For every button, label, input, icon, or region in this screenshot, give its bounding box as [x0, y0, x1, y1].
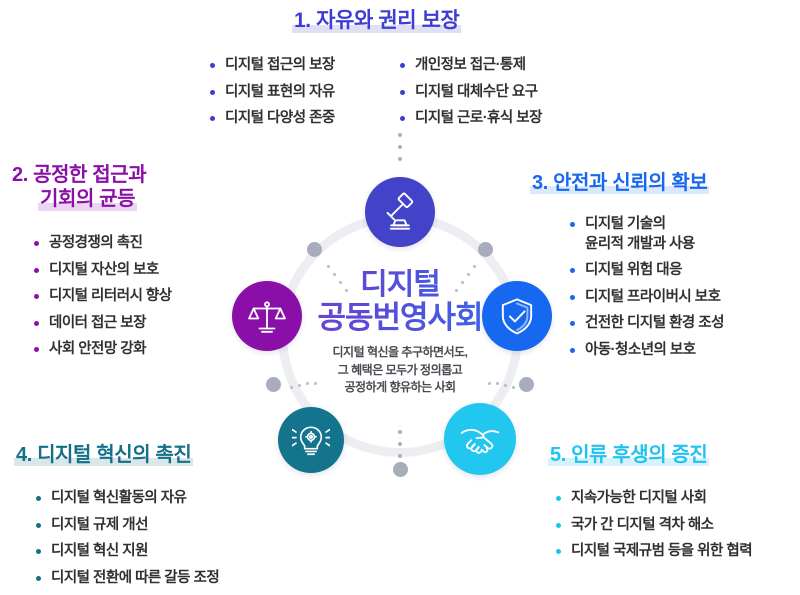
- list-item: 디지털 리터러시 향상: [34, 287, 172, 307]
- list-bullet: [570, 295, 575, 300]
- lightbulb-gear-icon[interactable]: [278, 407, 344, 473]
- section-1-list-right: 개인정보 접근·통제 디지털 대체수단 요구 디지털 근로·휴식 보장: [400, 56, 542, 136]
- list-item: 디지털 혁신활동의 자유: [36, 489, 219, 509]
- list-bullet: [556, 549, 561, 554]
- list-bullet: [34, 268, 39, 273]
- section-1-number: 1.: [294, 9, 311, 32]
- list-item: 디지털 기술의 윤리적 개발과 사용: [570, 215, 760, 254]
- list-item: 디지털 근로·휴식 보장: [400, 109, 542, 129]
- list-bullet: [36, 496, 41, 501]
- center-title-line2: 공동번영사회: [250, 301, 550, 336]
- ring-dot-top-left: [307, 242, 322, 257]
- list-bullet: [34, 347, 39, 352]
- section-5-heading: 5. 인류 후생의 증진: [548, 443, 709, 467]
- list-bullet: [36, 523, 41, 528]
- list-item: 디지털 국제규범 등을 위한 협력: [556, 542, 752, 562]
- list-bullet: [400, 116, 405, 121]
- section-3-title: 안전과 신뢰의 확보: [553, 172, 707, 194]
- section-3-heading: 3. 안전과 신뢰의 확보: [530, 171, 709, 195]
- center-subtitle: 디지털 혁신을 추구하면서도, 그 혜택은 모두가 정의롭고 공정하게 향유하는…: [250, 344, 550, 396]
- section-2-heading: 2. 공정한 접근과 기회의 균등: [12, 163, 146, 212]
- list-item: 디지털 위험 대응: [570, 261, 760, 281]
- list-bullet: [34, 241, 39, 246]
- list-item: 디지털 다양성 존중: [210, 109, 335, 129]
- section-1-heading: 1. 자유와 권리 보장: [292, 8, 461, 34]
- center-ring-diagram: 디지털 공동번영사회 디지털 혁신을 추구하면서도, 그 혜택은 모두가 정의롭…: [250, 185, 550, 485]
- section-4-number: 4.: [16, 444, 32, 466]
- section-2-list: 공정경쟁의 촉진 디지털 자산의 보호 디지털 리터러시 향상 데이터 접근 보…: [34, 234, 172, 367]
- section-5-number: 5.: [550, 444, 566, 466]
- list-item: 사회 안전망 강화: [34, 340, 172, 360]
- section-2-title-line2: 기회의 균등: [40, 188, 135, 210]
- gavel-icon[interactable]: [365, 177, 435, 247]
- list-item: 디지털 혁신 지원: [36, 542, 219, 562]
- center-subtitle-line3: 공정하게 향유하는 사회: [250, 379, 550, 396]
- list-item: 디지털 규제 개선: [36, 516, 219, 536]
- center-subtitle-line2: 그 혜택은 모두가 정의롭고: [250, 362, 550, 379]
- list-bullet: [556, 523, 561, 528]
- handshake-glyph: [459, 418, 501, 460]
- list-bullet: [36, 576, 41, 581]
- section-4-list: 디지털 혁신활동의 자유 디지털 규제 개선 디지털 혁신 지원 디지털 전환에…: [36, 489, 219, 595]
- list-item: 디지털 자산의 보호: [34, 261, 172, 281]
- list-item-line1: 디지털 기술의: [585, 216, 666, 232]
- list-item: 공정경쟁의 촉진: [34, 234, 172, 254]
- section-3-list: 디지털 기술의 윤리적 개발과 사용 디지털 위험 대응 디지털 프라이버시 보…: [570, 215, 760, 367]
- section-4-title: 디지털 혁신의 촉진: [37, 444, 191, 466]
- list-bullet: [400, 63, 405, 68]
- list-item: 건전한 디지털 환경 조성: [570, 314, 760, 334]
- list-bullet: [210, 116, 215, 121]
- ring-dot-bottom: [393, 462, 408, 477]
- list-bullet: [34, 294, 39, 299]
- list-bullet: [210, 90, 215, 95]
- list-bullet: [570, 321, 575, 326]
- gavel-glyph: [380, 192, 420, 232]
- section-2-title-line1: 공정한 접근과: [33, 164, 146, 186]
- center-title-line1: 디지털: [250, 269, 550, 301]
- list-bullet: [556, 496, 561, 501]
- list-item: 아동·청소년의 보호: [570, 341, 760, 361]
- list-bullet: [570, 268, 575, 273]
- lightbulb-glyph: [292, 421, 330, 459]
- section-4-heading: 4. 디지털 혁신의 촉진: [14, 443, 193, 467]
- section-5-list: 지속가능한 디지털 사회 국가 간 디지털 격차 해소 디지털 국제규범 등을 …: [556, 489, 752, 569]
- list-item: 디지털 표현의 자유: [210, 83, 335, 103]
- handshake-icon[interactable]: [444, 403, 516, 475]
- section-5-title: 인류 후생의 증진: [571, 444, 707, 466]
- list-bullet: [570, 222, 575, 227]
- section-1-title: 자유와 권리 보장: [316, 9, 459, 32]
- list-item: 디지털 전환에 따른 갈등 조정: [36, 569, 219, 589]
- list-bullet: [210, 63, 215, 68]
- list-bullet: [34, 321, 39, 326]
- list-bullet: [570, 348, 575, 353]
- section-1-list-left: 디지털 접근의 보장 디지털 표현의 자유 디지털 다양성 존중: [210, 56, 335, 136]
- list-item: 지속가능한 디지털 사회: [556, 489, 752, 509]
- ring-dot-top-right: [478, 242, 493, 257]
- list-item: 디지털 접근의 보장: [210, 56, 335, 76]
- list-item: 국가 간 디지털 격차 해소: [556, 516, 752, 536]
- list-item-line2: 윤리적 개발과 사용: [585, 236, 695, 252]
- center-subtitle-line1: 디지털 혁신을 추구하면서도,: [250, 344, 550, 361]
- list-item: 데이터 접근 보장: [34, 314, 172, 334]
- section-2-number: 2.: [12, 164, 28, 186]
- list-bullet: [400, 90, 405, 95]
- list-item: 개인정보 접근·통제: [400, 56, 542, 76]
- list-bullet: [36, 549, 41, 554]
- list-item: 디지털 프라이버시 보호: [570, 288, 760, 308]
- list-item: 디지털 대체수단 요구: [400, 83, 542, 103]
- center-title-block: 디지털 공동번영사회 디지털 혁신을 추구하면서도, 그 혜택은 모두가 정의롭…: [250, 269, 550, 396]
